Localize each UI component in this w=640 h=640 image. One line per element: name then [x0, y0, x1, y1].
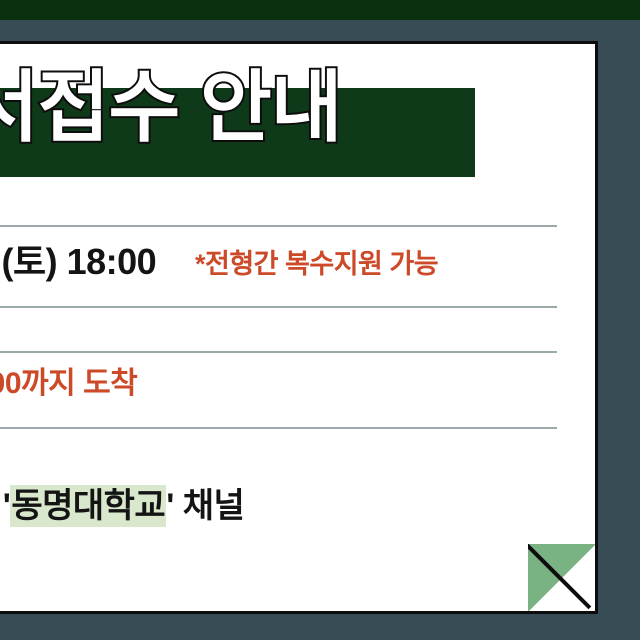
divider-3: [0, 351, 557, 353]
corner-fold: [528, 544, 596, 612]
slide-canvas: 서접수 안내 7. (토) 18:00 *전형간 복수지원 가능 8:00까지 …: [0, 0, 640, 640]
row-channel-value: 담 '동명대학교' 채널: [0, 489, 244, 523]
row-channel-prefix: 담 ': [0, 487, 10, 525]
row-date-value: 7. (토) 18:00: [0, 244, 156, 280]
divider-1: [0, 225, 557, 227]
divider-4: [0, 427, 557, 429]
info-rows: 7. (토) 18:00 *전형간 복수지원 가능 8:00까지 도착 담 '동…: [0, 44, 595, 611]
top-green-band: [0, 0, 640, 20]
info-card: 서접수 안내 7. (토) 18:00 *전형간 복수지원 가능 8:00까지 …: [0, 41, 598, 614]
divider-2: [0, 306, 557, 308]
row-date-note: *전형간 복수지원 가능: [195, 251, 438, 278]
row-channel-highlight: 동명대학교: [10, 485, 166, 527]
row-arrival-value: 8:00까지 도착: [0, 369, 137, 399]
row-channel-suffix: ' 채널: [166, 487, 244, 525]
